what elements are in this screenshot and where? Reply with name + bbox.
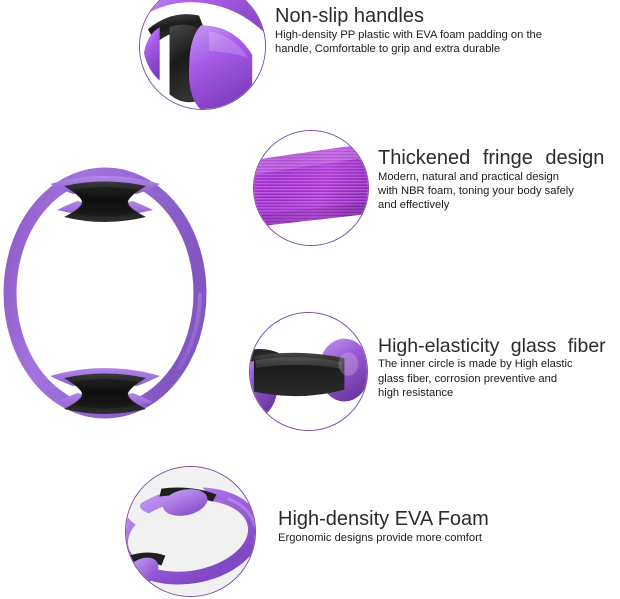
feature-high-density-eva-foam: High-density EVA Foam Ergonomic designs … [0,0,620,599]
feature-4-text: High-density EVA Foam Ergonomic designs … [278,509,608,545]
tilted-ring-photo [125,466,256,597]
feature-4-body: Ergonomic designs provide more comfort [278,531,608,545]
feature-4-title: High-density EVA Foam [278,509,608,530]
